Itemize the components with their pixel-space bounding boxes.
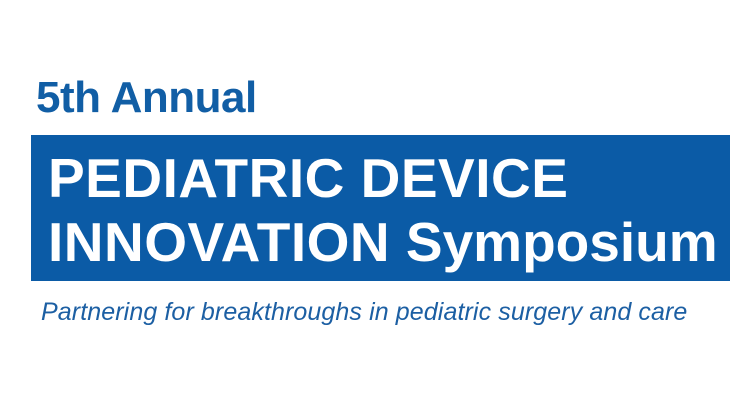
banner-title-band: PEDIATRIC DEVICE INNOVATION Symposium — [31, 135, 730, 281]
banner-title-symposium: Symposium — [406, 211, 718, 273]
symposium-banner: 5th Annual PEDIATRIC DEVICE INNOVATION S… — [0, 0, 736, 414]
banner-title-space — [390, 211, 406, 273]
banner-eyebrow: 5th Annual — [36, 74, 257, 122]
banner-title-line-2: INNOVATION Symposium — [48, 215, 718, 270]
banner-title-innovation: INNOVATION — [48, 211, 390, 273]
banner-tagline: Partnering for breakthroughs in pediatri… — [41, 297, 687, 327]
banner-title-line-1: PEDIATRIC DEVICE — [48, 151, 568, 206]
